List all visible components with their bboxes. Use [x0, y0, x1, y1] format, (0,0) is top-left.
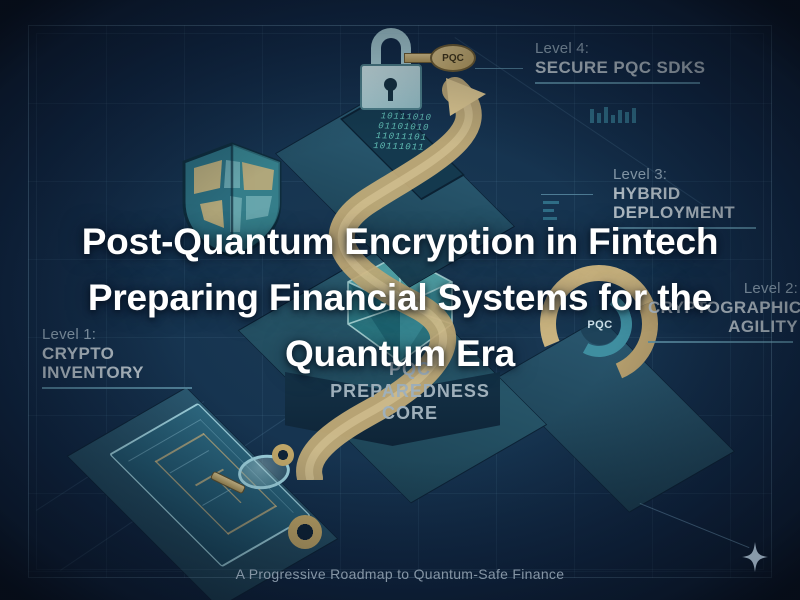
poster-caption: A Progressive Roadmap to Quantum-Safe Fi…: [0, 566, 800, 582]
poster-canvas: PQC 10111010011010101101110110111011: [0, 0, 800, 600]
page-title: Post-Quantum Encryption in Fintech Prepa…: [0, 214, 800, 382]
